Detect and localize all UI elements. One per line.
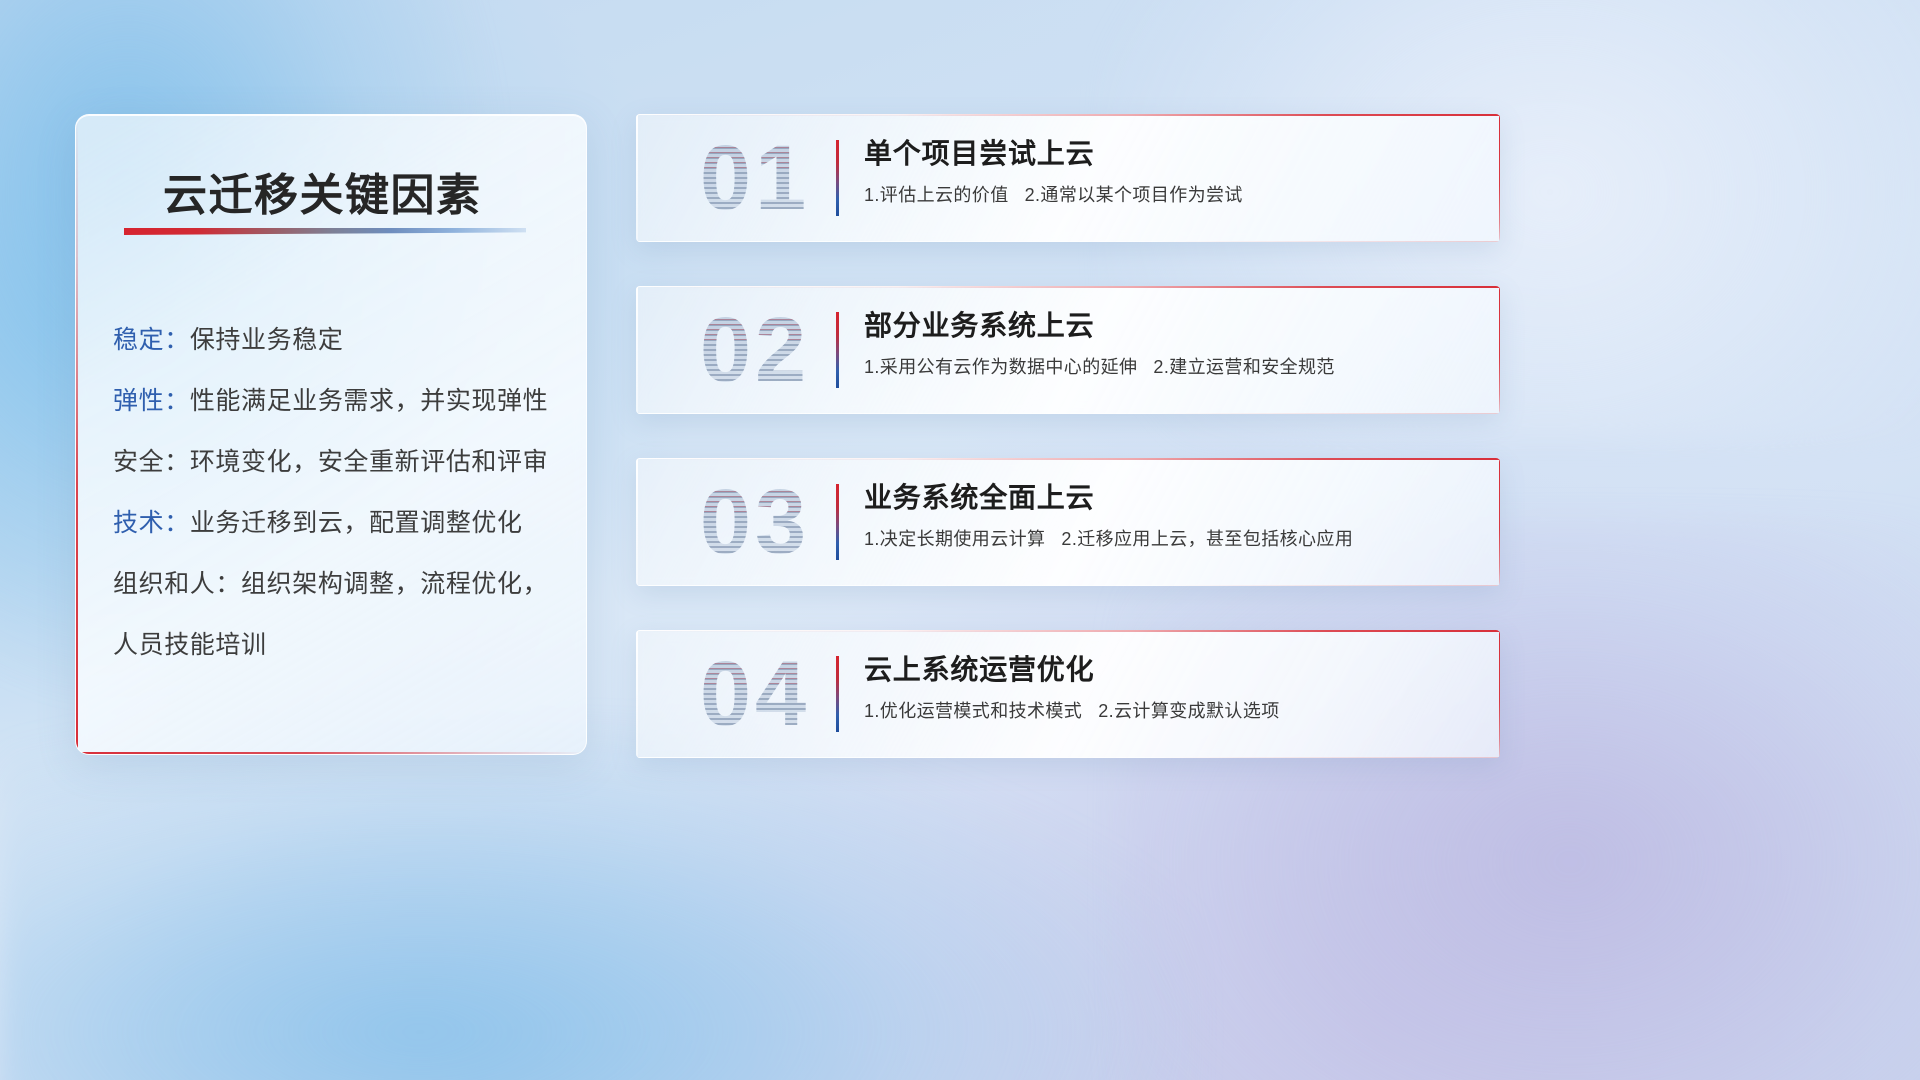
card-left-border: [636, 458, 638, 586]
list-item: 稳定：保持业务稳定: [113, 310, 573, 371]
card-title: 业务系统全面上云: [864, 478, 1480, 518]
list-item-label: 技术：: [113, 509, 190, 537]
card-accent-bar: [836, 140, 839, 216]
card-content: 业务系统全面上云 1.决定长期使用云计算2.迁移应用上云，甚至包括核心应用: [864, 478, 1480, 552]
card-description: 1.采用公有云作为数据中心的延伸2.建立运营和安全规范: [864, 354, 1480, 380]
card-description-part-2: 2.云计算变成默认选项: [1098, 701, 1279, 721]
card-top-border: [636, 630, 1500, 632]
card-accent-bar: [836, 484, 839, 560]
card-description-part-1: 1.评估上云的价值: [864, 185, 1009, 205]
migration-stage-cards: 01 单个项目尝试上云 1.评估上云的价值2.通常以某个项目作为尝试 02 部分…: [636, 114, 1500, 802]
card-title: 单个项目尝试上云: [864, 134, 1480, 174]
stage-number-03: 03: [660, 472, 850, 572]
list-item-text: 组织架构调整，流程优化，: [241, 570, 548, 598]
card-accent-bar: [836, 656, 839, 732]
list-item-text: 性能满足业务需求，并实现弹性: [190, 387, 548, 415]
stage-number-glyph: 04: [700, 648, 810, 740]
card-description-part-2: 2.通常以某个项目作为尝试: [1025, 185, 1243, 205]
card-content: 部分业务系统上云 1.采用公有云作为数据中心的延伸2.建立运营和安全规范: [864, 306, 1480, 380]
card-bottom-border: [636, 241, 1500, 242]
card-description-part-1: 1.采用公有云作为数据中心的延伸: [864, 357, 1137, 377]
stage-number-04: 04: [660, 644, 850, 744]
list-item-text: 人员技能培训: [113, 631, 267, 659]
stage-card-04[interactable]: 04 云上系统运营优化 1.优化运营模式和技术模式2.云计算变成默认选项: [636, 630, 1500, 758]
card-top-border: [636, 458, 1500, 460]
card-description: 1.优化运营模式和技术模式2.云计算变成默认选项: [864, 698, 1480, 724]
card-bottom-border: [636, 585, 1500, 586]
card-content: 单个项目尝试上云 1.评估上云的价值2.通常以某个项目作为尝试: [864, 134, 1480, 208]
card-description-part-2: 2.建立运营和安全规范: [1153, 357, 1334, 377]
card-left-border: [636, 114, 638, 242]
list-item-label: 组织和人：: [113, 570, 241, 598]
stage-card-01[interactable]: 01 单个项目尝试上云 1.评估上云的价值2.通常以某个项目作为尝试: [636, 114, 1500, 242]
card-left-border: [636, 286, 638, 414]
card-title: 部分业务系统上云: [864, 306, 1480, 346]
stage-number-glyph: 03: [700, 476, 810, 568]
list-item-text: 业务迁移到云，配置调整优化: [190, 509, 523, 537]
card-content: 云上系统运营优化 1.优化运营模式和技术模式2.云计算变成默认选项: [864, 650, 1480, 724]
stage-number-glyph: 02: [700, 304, 810, 396]
list-item: 安全：环境变化，安全重新评估和评审: [113, 432, 573, 493]
list-item-text: 保持业务稳定: [190, 326, 344, 354]
list-item: 技术：业务迁移到云，配置调整优化: [113, 493, 573, 554]
card-top-border: [636, 114, 1500, 116]
stage-card-02[interactable]: 02 部分业务系统上云 1.采用公有云作为数据中心的延伸2.建立运营和安全规范: [636, 286, 1500, 414]
key-factors-panel: 云迁移关键因素 稳定：保持业务稳定 弹性：性能满足业务需求，并实现弹性 安全：环…: [75, 114, 587, 755]
list-item-text: 环境变化，安全重新评估和评审: [190, 448, 548, 476]
card-right-border: [1499, 114, 1501, 242]
card-bottom-border: [636, 757, 1500, 758]
page-title: 云迁移关键因素: [163, 159, 482, 223]
list-item-label: 稳定：: [113, 326, 190, 354]
card-title: 云上系统运营优化: [864, 650, 1480, 690]
card-description: 1.决定长期使用云计算2.迁移应用上云，甚至包括核心应用: [864, 526, 1480, 552]
title-divider: [124, 228, 526, 235]
list-item: 人员技能培训: [113, 615, 573, 676]
card-right-border: [1499, 458, 1501, 586]
stage-number-glyph: 01: [700, 132, 810, 224]
card-right-border: [1499, 630, 1501, 758]
card-description-part-1: 1.优化运营模式和技术模式: [864, 701, 1082, 721]
key-factors-list: 稳定：保持业务稳定 弹性：性能满足业务需求，并实现弹性 安全：环境变化，安全重新…: [113, 310, 573, 676]
list-item-label: 弹性：: [113, 387, 190, 415]
stage-card-03[interactable]: 03 业务系统全面上云 1.决定长期使用云计算2.迁移应用上云，甚至包括核心应用: [636, 458, 1500, 586]
stage-number-01: 01: [660, 128, 850, 228]
card-left-border: [636, 630, 638, 758]
card-description: 1.评估上云的价值2.通常以某个项目作为尝试: [864, 182, 1480, 208]
card-right-border: [1499, 286, 1501, 414]
card-description-part-1: 1.决定长期使用云计算: [864, 529, 1045, 549]
list-item-label: 安全：: [113, 448, 190, 476]
list-item: 组织和人：组织架构调整，流程优化，: [113, 554, 573, 615]
card-top-border: [636, 286, 1500, 288]
card-description-part-2: 2.迁移应用上云，甚至包括核心应用: [1061, 529, 1353, 549]
card-bottom-border: [636, 413, 1500, 414]
list-item: 弹性：性能满足业务需求，并实现弹性: [113, 371, 573, 432]
stage-number-02: 02: [660, 300, 850, 400]
card-accent-bar: [836, 312, 839, 388]
